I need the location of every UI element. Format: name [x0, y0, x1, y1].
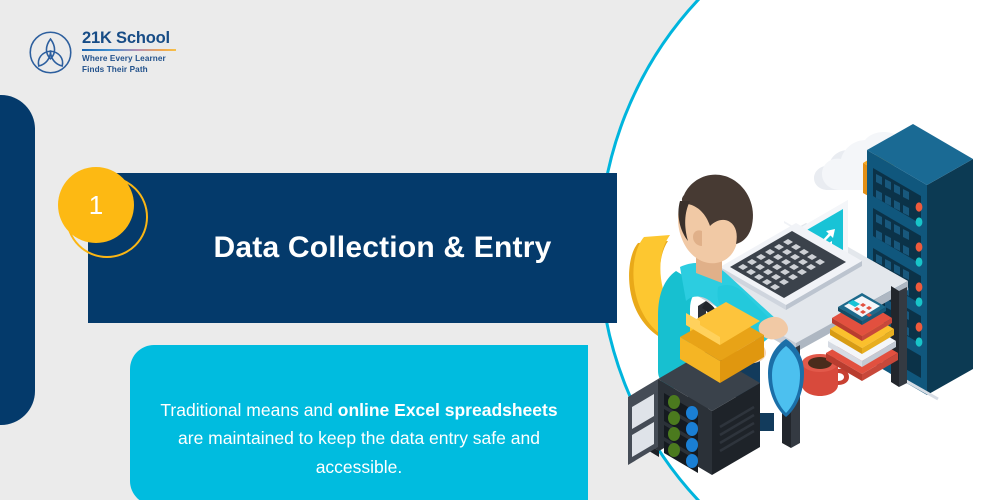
- description-text: Traditional means and online Excel sprea…: [159, 396, 559, 482]
- description-part1: Traditional means and: [160, 400, 337, 420]
- description-panel: Traditional means and online Excel sprea…: [130, 345, 588, 500]
- step-number-badge: 1: [58, 167, 150, 259]
- brand-logo: 21K School Where Every Learner Finds The…: [28, 30, 176, 75]
- infographic-canvas: 21K School Where Every Learner Finds The…: [0, 0, 1000, 500]
- page-title: Data Collection & Entry: [154, 231, 552, 265]
- brand-rule: [82, 49, 176, 52]
- illustration: [620, 95, 1000, 485]
- lotus-circle-logo-icon: [28, 30, 73, 75]
- description-part2: are maintained to keep the data entry sa…: [178, 428, 540, 477]
- step-title-banner: Data Collection & Entry: [88, 173, 617, 323]
- brand-name: 21K School: [82, 30, 176, 47]
- step-number: 1: [89, 192, 103, 218]
- brand-logo-text: 21K School Where Every Learner Finds The…: [82, 30, 176, 75]
- description-bold1: online Excel spreadsheets: [338, 400, 558, 420]
- brand-tagline-line2: Finds Their Path: [82, 65, 148, 74]
- step-badge-disc: 1: [58, 167, 134, 243]
- left-accent-slab: [0, 95, 35, 425]
- brand-tagline: Where Every Learner Finds Their Path: [82, 54, 176, 75]
- brand-tagline-line1: Where Every Learner: [82, 54, 166, 63]
